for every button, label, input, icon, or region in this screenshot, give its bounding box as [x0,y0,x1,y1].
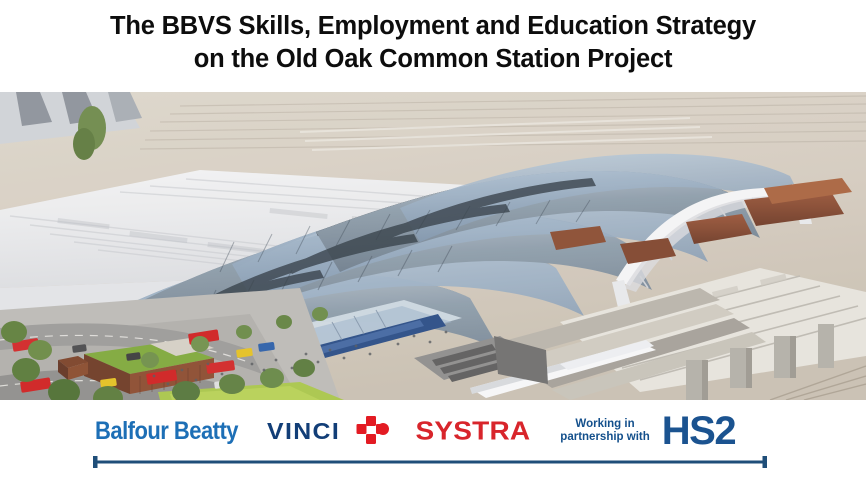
partnership-label: Working in partnership with [560,418,649,444]
partner-logo-bar: Balfour Beatty VINCI [0,400,866,487]
slide-root: The BBVS Skills, Employment and Educatio… [0,0,866,487]
systra-logo[interactable]: SYSTRA [416,416,531,445]
vinci-logo[interactable]: VINCI [267,415,390,447]
page-title-line-2: on the Old Oak Common Station Project [0,43,866,76]
vinci-wordmark: VINCI [267,418,340,445]
partnership-label-line-2: partnership with [560,431,649,443]
hero-image [0,92,866,400]
hs2-wordmark: HS2 [662,411,735,451]
hs2-partnership-logo[interactable]: Working in partnership with HS2 [560,411,735,451]
logo-row: Balfour Beatty VINCI [95,410,775,452]
blue-divider-rule [93,455,767,467]
page-title: The BBVS Skills, Employment and Educatio… [0,10,866,76]
vinci-cross-icon [356,415,390,447]
balfour-beatty-logo[interactable]: Balfour Beatty [95,417,227,446]
hero-illustration [0,92,866,400]
partnership-label-line-1: Working in [575,418,634,430]
page-title-line-1: The BBVS Skills, Employment and Educatio… [0,10,866,43]
